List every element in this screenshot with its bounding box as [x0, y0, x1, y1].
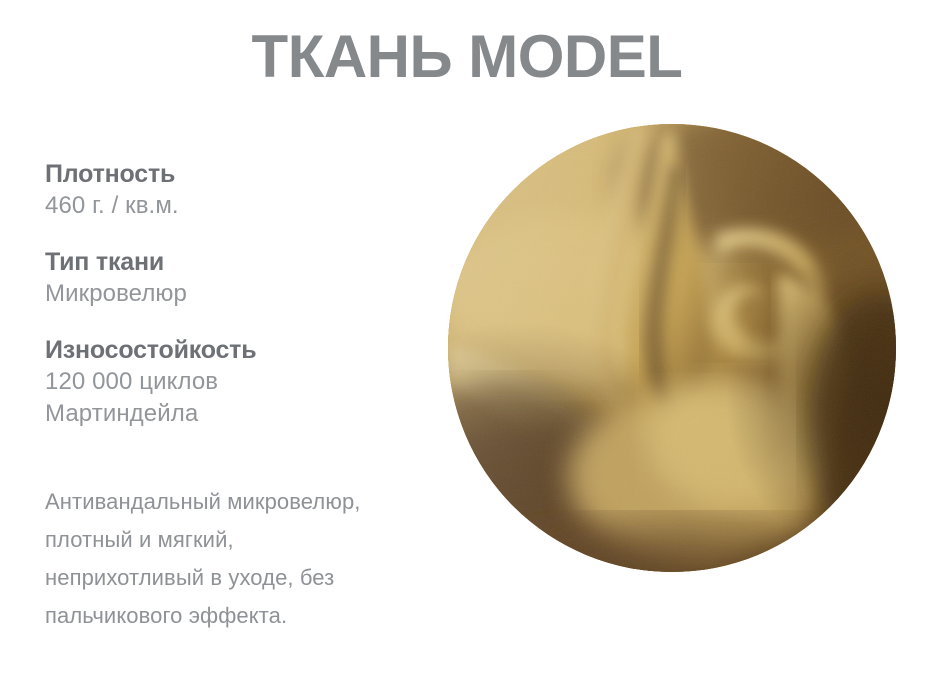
spec-durability-value-line2: Мартиндейла: [45, 398, 445, 431]
spec-durability-value-line1: 120 000 циклов: [45, 366, 445, 399]
fabric-swatch-photo: [448, 124, 896, 572]
page-title: ТКАНЬ MODEL: [0, 24, 934, 90]
specs-list: Плотность 460 г. / кв.м. Тип ткани Микро…: [45, 160, 445, 457]
spec-density-value: 460 г. / кв.м.: [45, 190, 445, 223]
spec-durability: Износостойкость 120 000 циклов Мартиндей…: [45, 336, 445, 431]
description-line-1: Антивандальный микровелюр,: [45, 483, 465, 521]
description-text: Антивандальный микровелюр, плотный и мяг…: [45, 483, 465, 635]
description-line-2: плотный и мягкий,: [45, 521, 465, 559]
spec-fabric-type-value: Микровелюр: [45, 278, 445, 311]
description-line-3: неприхотливый в уходе, без: [45, 559, 465, 597]
spec-durability-label: Износостойкость: [45, 336, 445, 366]
spec-density: Плотность 460 г. / кв.м.: [45, 160, 445, 222]
fabric-info-slide: ТКАНЬ MODEL Плотность 460 г. / кв.м. Тип…: [0, 0, 934, 700]
fabric-illustration: [448, 124, 896, 572]
description-line-4: пальчикового эффекта.: [45, 597, 465, 635]
spec-fabric-type: Тип ткани Микровелюр: [45, 248, 445, 310]
spec-density-label: Плотность: [45, 160, 445, 190]
spec-fabric-type-label: Тип ткани: [45, 248, 445, 278]
